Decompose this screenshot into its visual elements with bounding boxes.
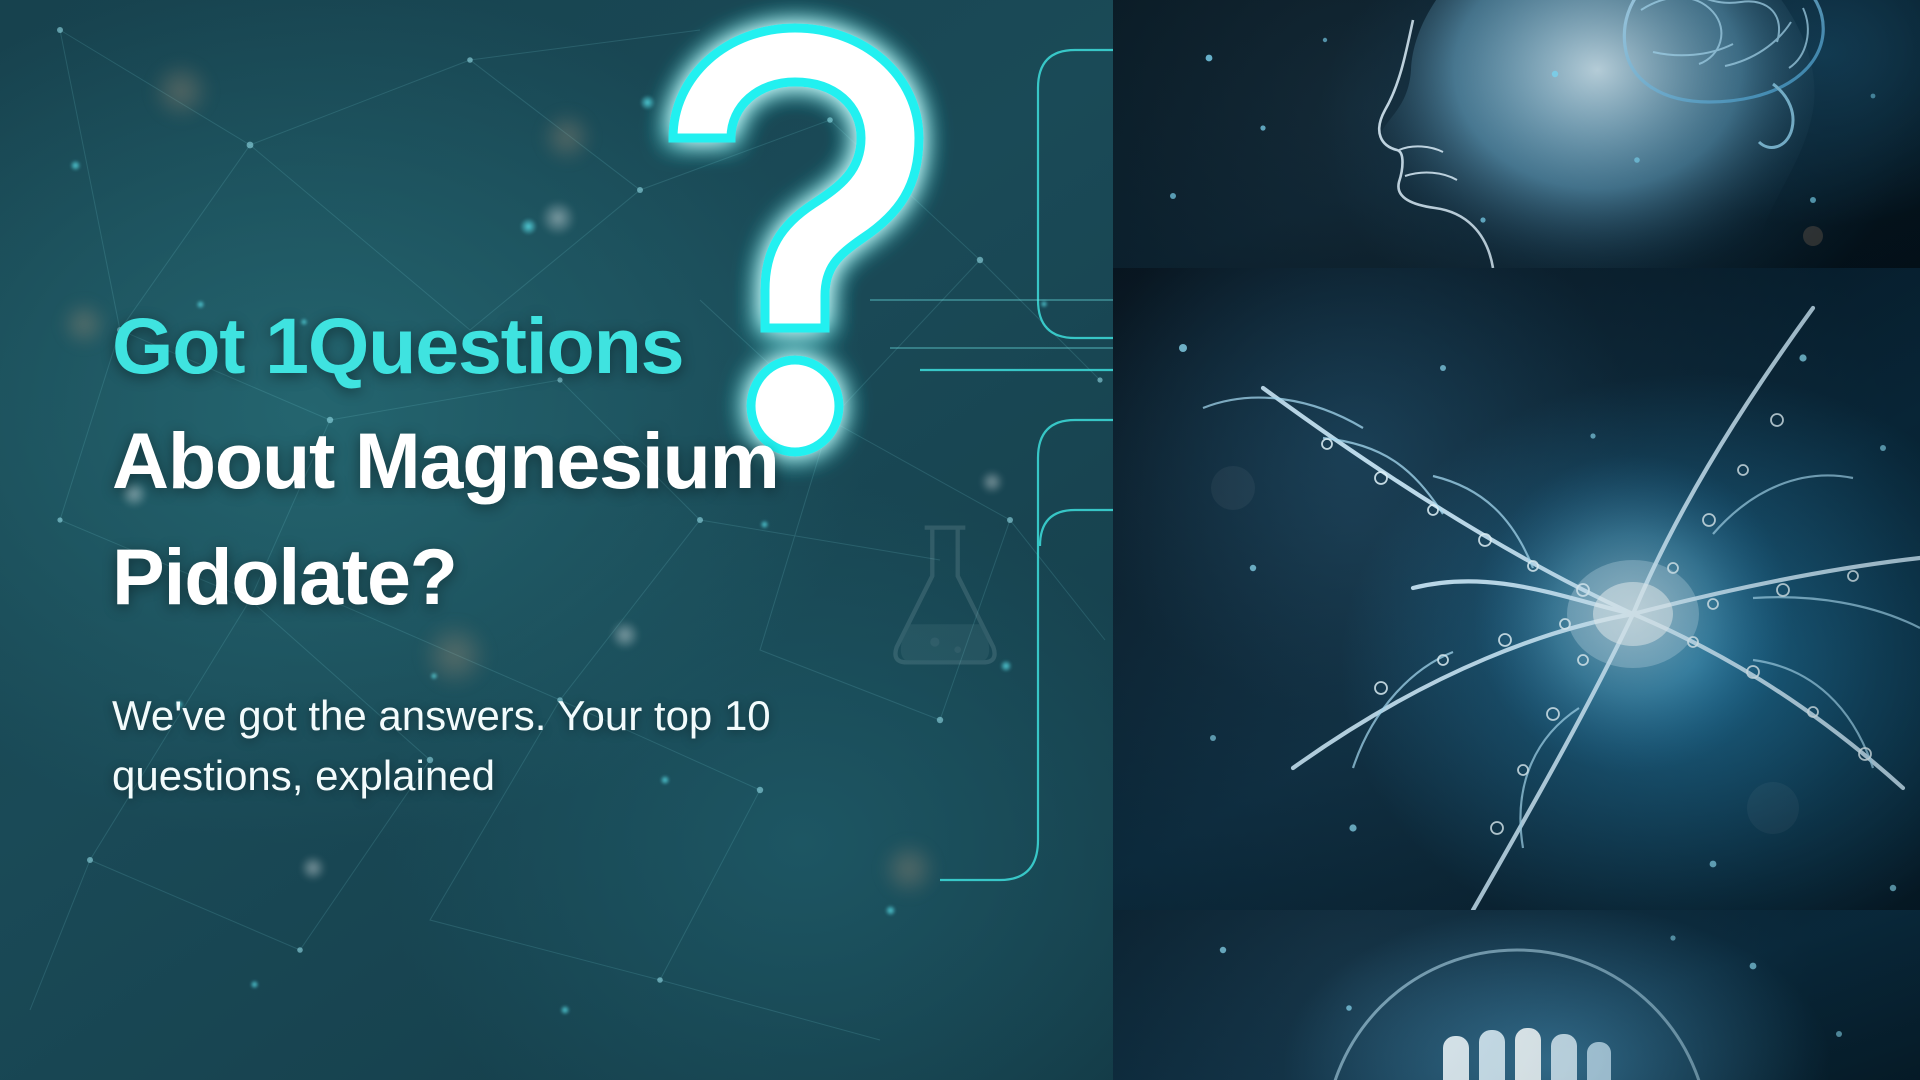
human-head-brain-xray-image (1113, 0, 1920, 268)
faq-banner: Got 1Questions About Magnesium Pidolate?… (0, 0, 1920, 1080)
media-column (1113, 0, 1920, 1080)
headline-line-3: Pidolate? (112, 519, 1052, 634)
page-title: Got 1Questions About Magnesium Pidolate? (112, 288, 1052, 634)
headline-line-2: About Magnesium (112, 403, 1052, 518)
supplement-capsules-image (1113, 910, 1920, 1080)
headline-line-1: Got 1Questions (112, 288, 1052, 403)
subtitle-text: We've got the answers. Your top 10 quest… (112, 686, 912, 807)
neuron-synapse-network-image (1113, 268, 1920, 910)
left-content-panel: Got 1Questions About Magnesium Pidolate?… (0, 0, 1113, 1080)
headline-text-block: Got 1Questions About Magnesium Pidolate?… (112, 288, 1052, 807)
